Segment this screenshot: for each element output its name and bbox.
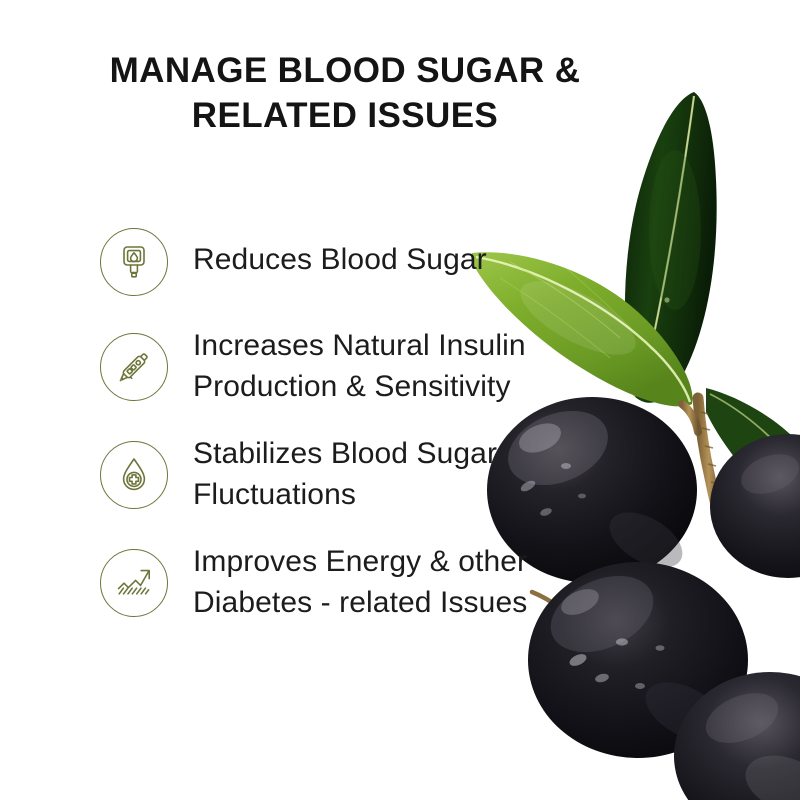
title-line-1: MANAGE BLOOD SUGAR & [0, 48, 690, 93]
title-line-2: RELATED ISSUES [0, 93, 690, 138]
benefit-label: Improves Energy & other Diabetes - relat… [193, 541, 527, 623]
insulin-pen-icon [100, 333, 168, 401]
rising-chart-arrow-icon [100, 549, 168, 617]
blood-drop-cross-icon [100, 441, 168, 509]
benefit-item: Increases Natural Insulin Production & S… [100, 325, 620, 407]
benefit-item: Stabilizes Blood Sugar Fluctuations [100, 433, 620, 515]
dark-olive-leaf [625, 92, 717, 403]
benefits-list: Reduces Blood Sugar Increases Natural In… [100, 228, 620, 623]
benefit-item: Improves Energy & other Diabetes - relat… [100, 541, 620, 623]
benefit-label: Reduces Blood Sugar [193, 228, 487, 280]
benefit-label: Increases Natural Insulin Production & S… [193, 325, 526, 407]
benefit-label: Stabilizes Blood Sugar Fluctuations [193, 433, 497, 515]
olive-fruit [710, 434, 800, 578]
olive-fruit [674, 672, 800, 800]
glucose-meter-icon [100, 228, 168, 296]
light-olive-leaf [706, 388, 800, 520]
page-title: MANAGE BLOOD SUGAR & RELATED ISSUES [0, 48, 690, 138]
benefit-item: Reduces Blood Sugar [100, 228, 620, 298]
